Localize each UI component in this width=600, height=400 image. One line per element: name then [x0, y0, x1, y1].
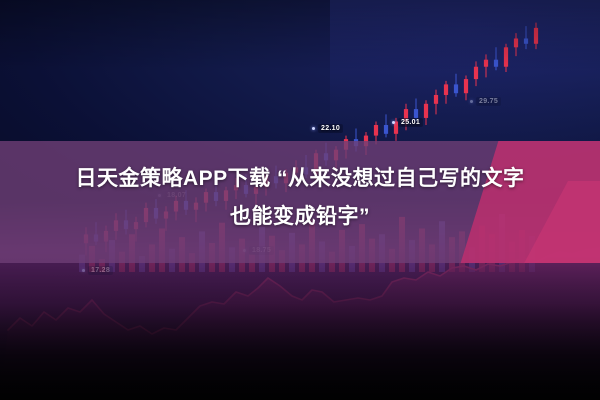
- price-tag-value: 25.01: [398, 118, 423, 127]
- price-tag-marker-icon: [82, 269, 85, 272]
- price-tag-value: 22.10: [318, 124, 343, 133]
- price-tag-22-10: 22.10: [312, 124, 343, 133]
- price-tag-marker-icon: [392, 121, 395, 124]
- headline-text: 日天金策略APP下载 “从来没想过自己写的文字 也能变成铅字”: [0, 160, 600, 236]
- price-tag-marker-icon: [312, 127, 315, 130]
- price-tag-value: 17.28: [88, 266, 113, 275]
- price-tag-25-01: 25.01: [392, 118, 423, 127]
- price-tag-value: 29.75: [476, 97, 501, 106]
- price-tag-17-28: 17.28: [82, 266, 113, 275]
- headline-line-2: 也能变成铅字”: [0, 198, 600, 236]
- headline-line-1: 日天金策略APP下载 “从来没想过自己写的文字: [0, 160, 600, 198]
- price-tag-marker-icon: [470, 100, 473, 103]
- banner-image: 22.1025.0129.7518.0718.7517.28 日天金策略APP下…: [0, 0, 600, 400]
- price-tag-29-75: 29.75: [470, 97, 501, 106]
